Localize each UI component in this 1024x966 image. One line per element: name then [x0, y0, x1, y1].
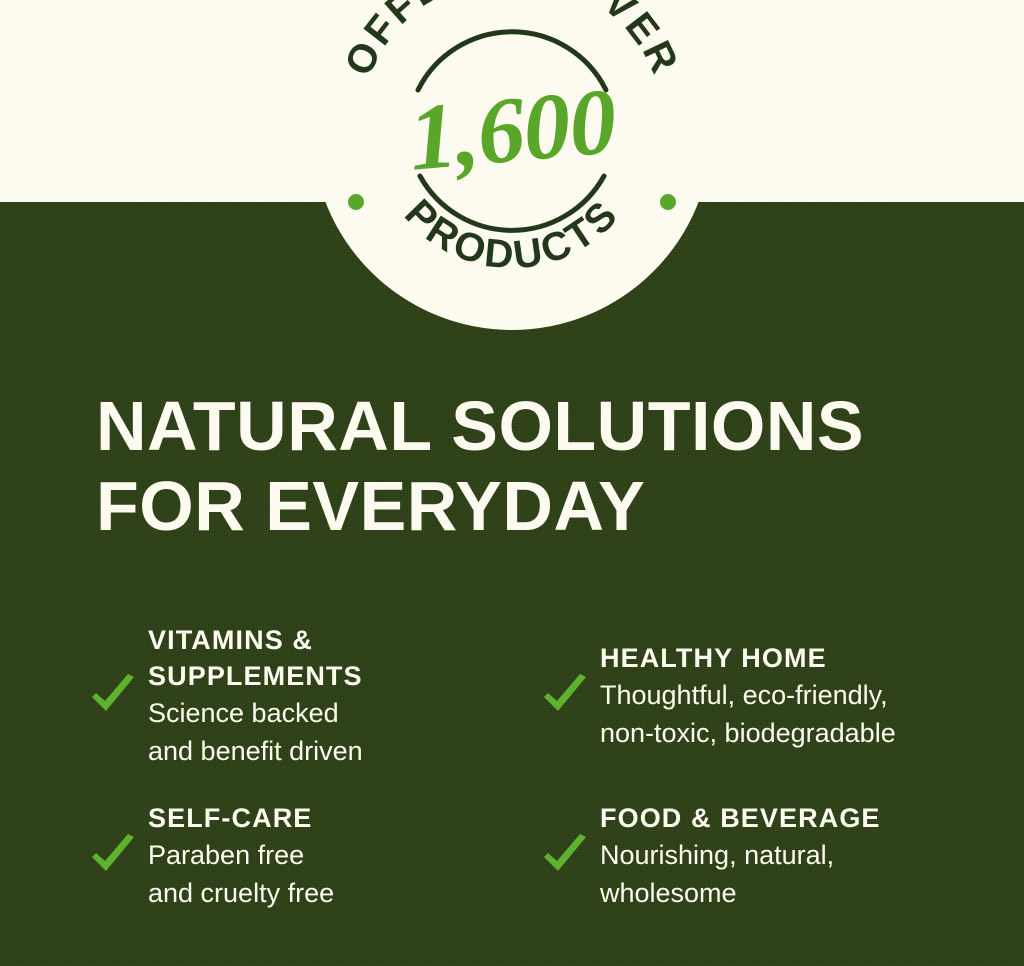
feature-title-line-1: HEALTHY HOME — [600, 640, 988, 676]
feature-item-vitamins-supplements: VITAMINS & SUPPLEMENTS Science backed an… — [88, 592, 540, 800]
feature-title-line-1: SELF-CARE — [148, 800, 540, 836]
feature-desc-line-1: Paraben free — [148, 836, 540, 874]
feature-title-line-2: SUPPLEMENTS — [148, 658, 540, 694]
feature-item-healthy-home: HEALTHY HOME Thoughtful, eco-friendly, n… — [540, 592, 988, 800]
feature-text-block: SELF-CARE Paraben free and cruelty free — [148, 800, 540, 912]
check-icon — [540, 673, 594, 719]
feature-desc-line-1: Science backed — [148, 694, 540, 732]
feature-desc-line-2: wholesome — [600, 874, 988, 912]
check-icon — [88, 833, 142, 879]
feature-desc-line-1: Thoughtful, eco-friendly, — [600, 676, 988, 714]
feature-text-block: FOOD & BEVERAGE Nourishing, natural, who… — [600, 800, 988, 912]
promo-banner: OFFERING OVER PRODUCTS 1,600 NATURAL SOL… — [0, 0, 1024, 966]
feature-title-line-1: FOOD & BEVERAGE — [600, 800, 988, 836]
feature-desc-line-2: and benefit driven — [148, 732, 540, 770]
feature-grid: VITAMINS & SUPPLEMENTS Science backed an… — [88, 592, 988, 912]
badge-count-value: 1,600 — [405, 74, 619, 186]
feature-desc-line-1: Nourishing, natural, — [600, 836, 988, 874]
feature-desc-line-2: non-toxic, biodegradable — [600, 714, 988, 752]
badge-count-wrapper: 1,600 — [312, 0, 712, 330]
check-icon — [88, 673, 142, 719]
headline-line-1: NATURAL SOLUTIONS — [96, 386, 976, 466]
feature-text-block: HEALTHY HOME Thoughtful, eco-friendly, n… — [600, 640, 988, 752]
page-title: NATURAL SOLUTIONS FOR EVERYDAY — [96, 386, 976, 546]
feature-title-line-1: VITAMINS & — [148, 622, 540, 658]
check-icon — [540, 833, 594, 879]
feature-item-self-care: SELF-CARE Paraben free and cruelty free — [88, 800, 540, 912]
headline-line-2: FOR EVERYDAY — [96, 466, 976, 546]
feature-desc-line-2: and cruelty free — [148, 874, 540, 912]
feature-item-food-beverage: FOOD & BEVERAGE Nourishing, natural, who… — [540, 800, 988, 912]
feature-text-block: VITAMINS & SUPPLEMENTS Science backed an… — [148, 622, 540, 770]
